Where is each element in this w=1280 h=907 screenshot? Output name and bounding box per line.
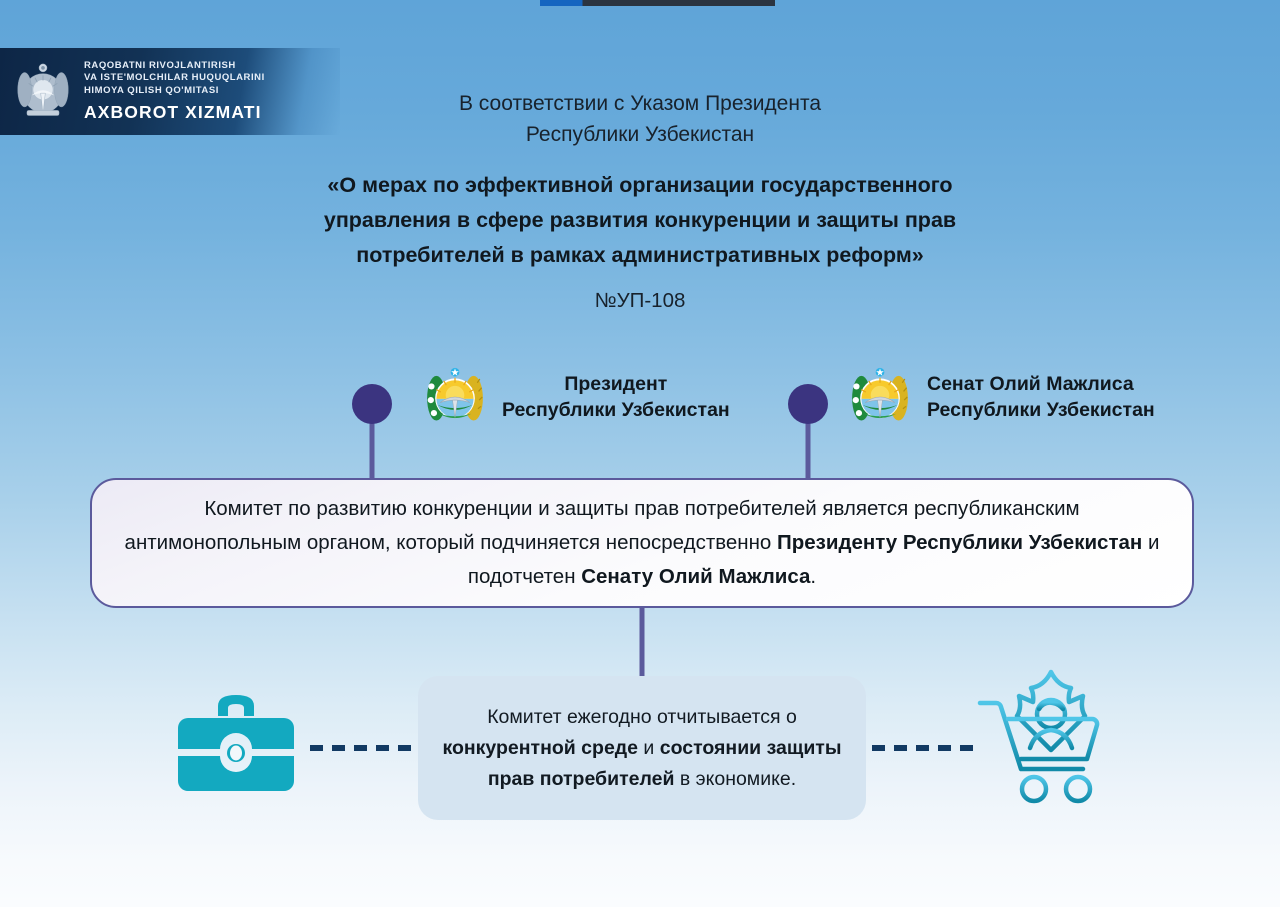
consumer-protection-cart-shield-icon [968,664,1134,828]
report-card-part2: и [638,737,660,759]
org-group-president: Президент Республики Узбекистан [424,364,730,430]
annual-report-text: Комитет ежегодно отчитывается о конкурен… [440,702,844,795]
node-senate [788,384,828,424]
main-card-bold2: Сенату Олий Мажлиса [581,565,810,588]
report-card-part3: в экономике. [674,768,796,790]
main-card-part3: . [810,565,816,588]
committee-status-text: Комитет по развитию конкуренции и защиты… [118,492,1166,594]
org-group-senate: Сенат Олий Мажлиса Республики Узбекистан [849,364,1155,430]
org-label-senate: Сенат Олий Мажлиса Республики Узбекистан [927,371,1155,423]
annual-report-card: Комитет ежегодно отчитывается о конкурен… [418,676,866,820]
report-card-part1: Комитет ежегодно отчитывается о [487,706,797,728]
briefcase-icon [168,688,304,800]
committee-status-card: Комитет по развитию конкуренции и защиты… [90,478,1194,608]
node-president [352,384,392,424]
main-card-bold1: Президенту Республики Узбекистан [777,531,1142,554]
uzbekistan-coat-of-arms-icon [849,364,911,430]
org-label-president: Президент Республики Узбекистан [502,371,730,423]
uzbekistan-coat-of-arms-icon [424,364,486,430]
report-card-bold1: конкурентной среде [442,737,638,759]
